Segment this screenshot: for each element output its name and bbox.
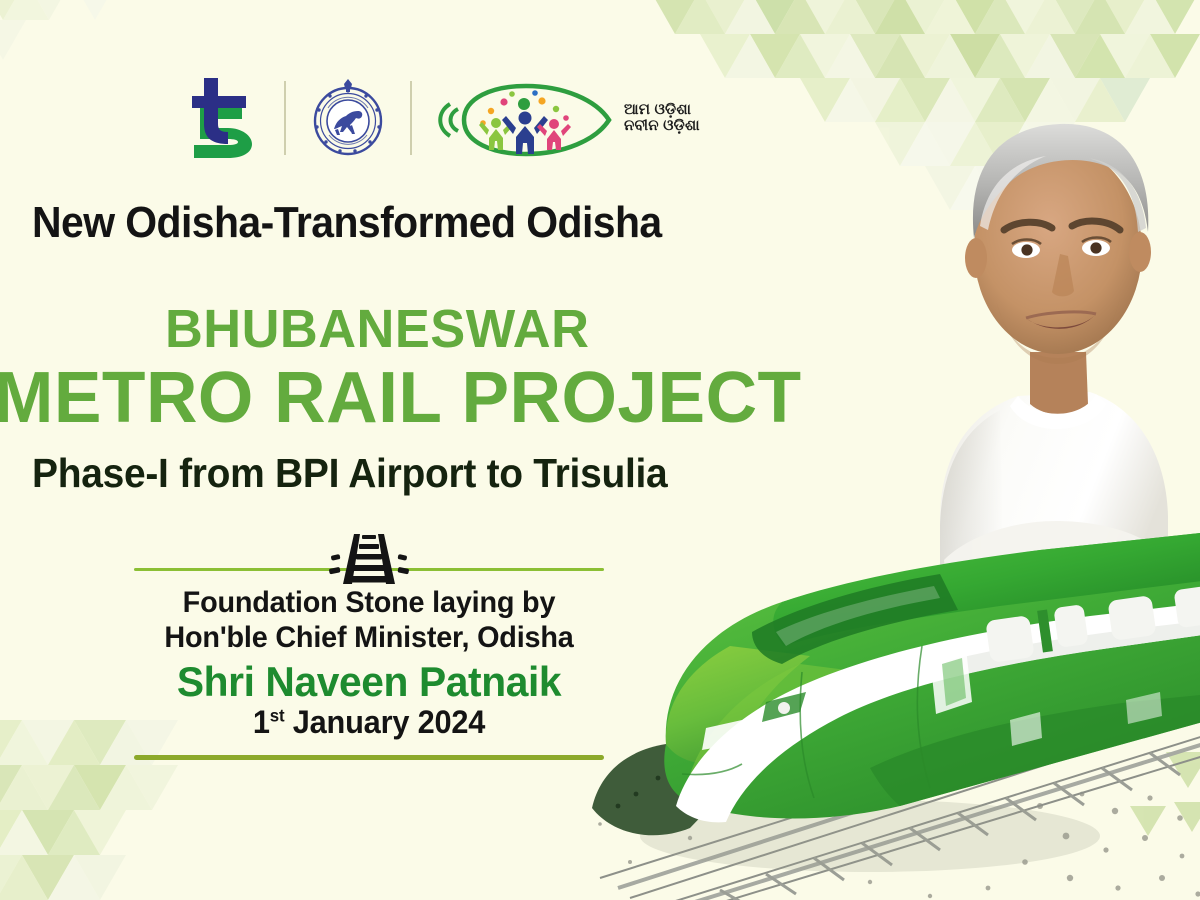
ama-odisha-text-line1: ଆମ ଓଡ଼ିଶା	[624, 102, 700, 118]
ama-odisha-text: ଆମ ଓଡ଼ିଶା ନବୀନ ଓଡ଼ିଶା	[624, 102, 700, 134]
logo-ama-odisha: ଆମ ଓଡ଼ିଶା ନବୀନ ଓଡ଼ିଶା	[434, 72, 700, 164]
tagline: New Odisha-Transformed Odisha	[32, 198, 662, 248]
railway-track-icon	[327, 528, 411, 586]
ama-odisha-leaf-icon	[434, 76, 614, 160]
logo-strip: ଆମ ଓଡ଼ିଶା ନବୀନ ଓଡ଼ିଶା	[176, 72, 700, 164]
event-date-number: 1	[253, 704, 270, 740]
poster-canvas: ଆମ ଓଡ଼ିଶା ନବୀନ ଓଡ଼ିଶା New Odisha-Transfo…	[0, 0, 1200, 900]
government-emblem-icon	[308, 77, 388, 159]
divider-with-icon	[134, 528, 604, 586]
metro-train-illustration	[570, 506, 1200, 900]
page-title-line1: BHUBANESWAR	[165, 298, 589, 360]
chief-minister-name: Shri Naveen Patnaik	[141, 658, 597, 705]
divider-bottom	[134, 755, 604, 760]
foundation-block: Foundation Stone laying by Hon'ble Chief…	[134, 528, 604, 760]
logo-5t	[176, 72, 262, 164]
logo-govt-emblem	[308, 72, 388, 164]
foundation-line-1: Foundation Stone laying by	[143, 586, 594, 621]
event-date-ordinal: st	[270, 705, 285, 725]
foundation-line-2: Hon'ble Chief Minister, Odisha	[143, 621, 594, 656]
page-subtitle: Phase-I from BPI Airport to Trisulia	[32, 450, 667, 497]
logo-divider-2	[410, 81, 412, 155]
ama-odisha-text-line2: ନବୀନ ଓଡ଼ିଶା	[624, 118, 700, 134]
logo-divider-1	[284, 81, 286, 155]
event-date-rest: January 2024	[284, 704, 485, 740]
triangle-pattern-top-left	[0, 0, 150, 110]
page-title-line2: METRO RAIL PROJECT	[0, 357, 802, 439]
five-t-icon	[176, 78, 262, 158]
event-date: 1st January 2024	[143, 704, 594, 741]
